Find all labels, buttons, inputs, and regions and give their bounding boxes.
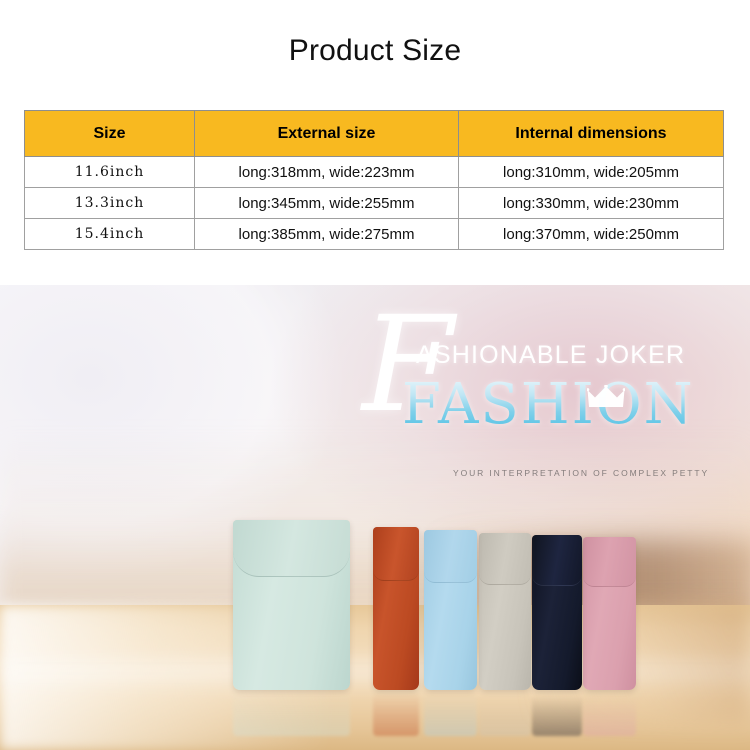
cell-internal: long:370mm, wide:250mm: [459, 219, 724, 250]
sleeve-reflection: [479, 695, 531, 736]
cell-size: 13.3inch: [25, 188, 195, 219]
brand-wordmark-fashion: FASHION: [402, 377, 695, 433]
sleeve-flap: [373, 527, 419, 581]
navy-black-sleeve: [532, 535, 582, 690]
crown-icon: [587, 385, 625, 409]
cell-size: 11.6inch: [25, 157, 195, 188]
cell-internal: long:330mm, wide:230mm: [459, 188, 724, 219]
pink-sleeve: [583, 537, 636, 690]
sleeve-reflection: [373, 692, 419, 736]
sleeve-reflection: [532, 696, 582, 736]
sleeve-flap: [233, 520, 350, 577]
column-header-internal: Internal dimensions: [459, 111, 724, 157]
table-row: 13.3inch long:345mm, wide:255mm long:330…: [25, 188, 724, 219]
product-photo-section: F ASHIONABLE JOKER FASHION YOUR INTERPRE…: [0, 285, 750, 750]
sleeve-flap: [424, 530, 477, 583]
page-title: Product Size: [0, 34, 750, 68]
brand-tagline-fashionable-joker: ASHIONABLE JOKER: [416, 341, 685, 370]
sleeve-flap: [583, 537, 636, 587]
gray-sleeve: [479, 533, 531, 690]
size-spec-table: Size External size Internal dimensions 1…: [24, 110, 724, 250]
cell-external: long:345mm, wide:255mm: [195, 188, 459, 219]
table-row: 15.4inch long:385mm, wide:275mm long:370…: [25, 219, 724, 250]
light-blue-sleeve: [424, 530, 477, 690]
cell-external: long:385mm, wide:275mm: [195, 219, 459, 250]
column-header-external: External size: [195, 111, 459, 157]
sleeve-reflection: [424, 694, 477, 736]
orange-sleeve: [373, 527, 419, 690]
cell-size: 15.4inch: [25, 219, 195, 250]
cell-external: long:318mm, wide:223mm: [195, 157, 459, 188]
product-size-section: Product Size Size External size Internal…: [0, 0, 750, 285]
sleeve-reflection: [233, 690, 350, 736]
mint-green-sleeve: [233, 520, 350, 690]
brand-watermark: F ASHIONABLE JOKER FASHION YOUR INTERPRE…: [350, 305, 710, 495]
sleeve-reflection: [583, 697, 636, 736]
brand-slogan: YOUR INTERPRETATION OF COMPLEX PETTY: [453, 468, 709, 478]
column-header-size: Size: [25, 111, 195, 157]
sleeve-flap: [532, 535, 582, 586]
cell-internal: long:310mm, wide:205mm: [459, 157, 724, 188]
table-row: 11.6inch long:318mm, wide:223mm long:310…: [25, 157, 724, 188]
sleeve-flap: [479, 533, 531, 585]
laptop-sleeve-lineup: [0, 490, 750, 750]
table-header-row: Size External size Internal dimensions: [25, 111, 724, 157]
